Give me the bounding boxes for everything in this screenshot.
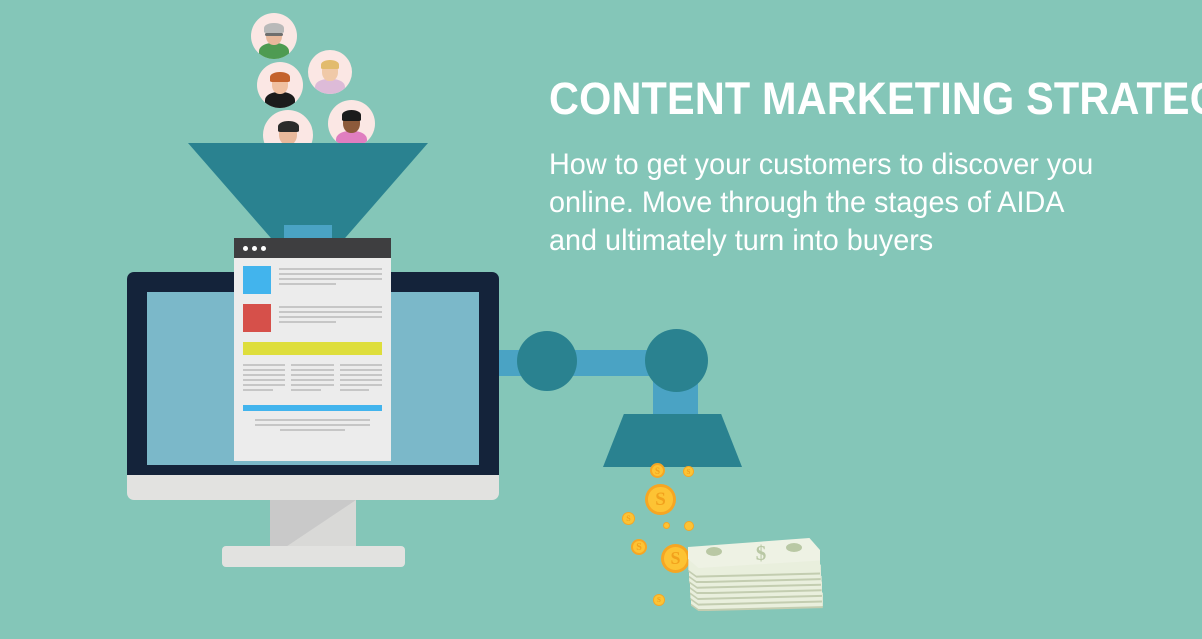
coin-dollar-symbol: S: [655, 489, 666, 511]
banknote-oval-right: [786, 543, 802, 552]
text-line: [279, 321, 336, 323]
text-line: [291, 379, 333, 381]
avatar-art: [308, 50, 352, 94]
text-line: [291, 374, 333, 376]
text-line: [279, 316, 382, 318]
window-dot-close-icon[interactable]: [243, 246, 248, 251]
text-column: [243, 364, 285, 394]
coin-inner-ring: [664, 523, 669, 528]
coin-7: S: [631, 539, 647, 555]
monitor-stand-base: [222, 546, 405, 567]
blue-divider-banner: [243, 405, 382, 411]
article-text-lines: [279, 304, 382, 332]
money-stack: $: [688, 538, 838, 600]
coin-dollar-symbol: S: [670, 548, 680, 569]
image-placeholder-blue: [243, 266, 271, 294]
text-line: [291, 384, 333, 386]
text-block: CONTENT MARKETING STRATEGY How to get yo…: [549, 74, 1169, 260]
illustration-canvas: SSSSSSS $ CONTENT MARKETING STRATEGY How…: [0, 0, 1202, 639]
article-text-lines: [279, 266, 382, 294]
avatar-torso: [265, 92, 295, 108]
text-line: [243, 374, 285, 376]
money-hopper: [603, 414, 742, 467]
glasses-icon: [265, 33, 282, 36]
coin-inner-ring: [685, 522, 693, 530]
text-line: [279, 273, 382, 275]
coin-dollar-symbol: S: [657, 596, 661, 604]
banknote-dollar-symbol: $: [744, 542, 778, 564]
text-line: [279, 268, 382, 270]
avatar-blond-person: [308, 50, 352, 94]
coin-5: [663, 522, 670, 529]
text-line: [340, 384, 382, 386]
avatar-art: [328, 100, 375, 147]
text-line: [340, 374, 382, 376]
coin-6: [684, 521, 694, 531]
article-row-red: [243, 304, 382, 332]
coin-1: S: [650, 463, 665, 478]
banknote-oval-left: [706, 547, 722, 556]
avatar-redhead-suit: [257, 62, 303, 108]
coin-9: S: [653, 594, 665, 606]
pipe-joint-left: [517, 331, 577, 391]
avatar-art: [251, 13, 297, 59]
text-line: [255, 424, 370, 426]
text-line: [243, 384, 285, 386]
text-line: [243, 379, 285, 381]
pipe-joint-right: [645, 329, 708, 392]
avatar-hair: [264, 23, 283, 33]
text-line: [279, 278, 382, 280]
coin-2: S: [683, 466, 694, 477]
footer-text: [243, 419, 382, 431]
browser-titlebar: [234, 238, 391, 258]
text-line: [340, 364, 382, 366]
three-column-text: [243, 364, 382, 394]
coin-8: S: [661, 544, 690, 573]
browser-window[interactable]: [234, 238, 391, 461]
coin-dollar-symbol: S: [636, 542, 642, 553]
avatar-older-man-glasses: [251, 13, 297, 59]
text-line: [279, 283, 336, 285]
article-row-blue: [243, 266, 382, 294]
text-line: [243, 369, 285, 371]
text-line: [243, 389, 273, 391]
coin-dollar-symbol: S: [655, 466, 660, 476]
avatar-hair: [270, 72, 289, 82]
text-line: [291, 389, 321, 391]
text-line: [291, 364, 333, 366]
coin-dollar-symbol: S: [626, 514, 630, 523]
avatar-torso: [259, 43, 289, 59]
coin-dollar-symbol: S: [687, 468, 691, 476]
avatar-woman-pink-top: [328, 100, 375, 147]
avatar-hair: [278, 121, 299, 132]
text-line: [291, 369, 333, 371]
text-column: [340, 364, 382, 394]
text-column: [291, 364, 333, 394]
text-line: [279, 306, 382, 308]
text-line: [340, 369, 382, 371]
text-line: [255, 419, 370, 421]
text-line: [243, 364, 285, 366]
page-subtitle: How to get your customers to discover yo…: [549, 146, 1106, 260]
avatar-art: [257, 62, 303, 108]
image-placeholder-red: [243, 304, 271, 332]
text-line: [340, 379, 382, 381]
yellow-call-to-action-banner[interactable]: [243, 342, 382, 355]
text-line: [280, 429, 344, 431]
browser-content: [234, 258, 391, 431]
avatar-hair: [321, 60, 339, 70]
window-dot-maximize-icon[interactable]: [261, 246, 266, 251]
avatar-hair: [342, 110, 362, 120]
coin-4: S: [622, 512, 635, 525]
text-line: [279, 311, 382, 313]
avatar-torso: [315, 79, 344, 94]
coin-3: S: [645, 484, 676, 515]
text-line: [340, 389, 370, 391]
monitor-chin: [127, 475, 499, 500]
page-title: CONTENT MARKETING STRATEGY: [549, 74, 1119, 124]
window-dot-minimize-icon[interactable]: [252, 246, 257, 251]
